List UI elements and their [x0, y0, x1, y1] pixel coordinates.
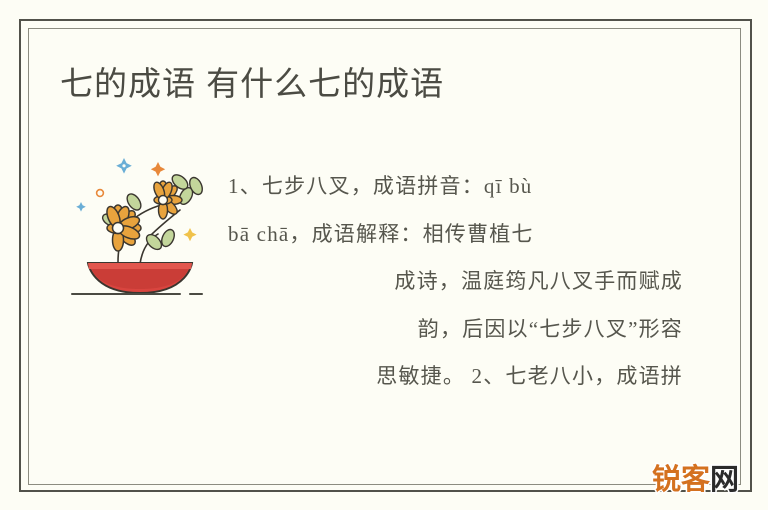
sparkle-orange-ring-icon — [97, 190, 104, 197]
article-line: 成诗，温庭筠凡八叉手而赋成 — [228, 258, 683, 306]
flower-pot-illustration — [62, 138, 224, 303]
article-line: 思敏捷。 2、七老八小，成语拼 — [228, 353, 683, 401]
flower-pot-bowl — [88, 263, 192, 293]
article-body: 1、七步八叉，成语拼音：qī bù bā chā，成语解释：相传曹植七 成诗，温… — [228, 163, 683, 401]
sparkle-orange-star-icon — [151, 162, 165, 176]
watermark-brand-text: 锐客 — [652, 462, 710, 496]
sparkle-yellow-star-icon — [183, 228, 196, 241]
sparkle-blue-dot-icon — [76, 202, 86, 212]
sparkle-blue-star-icon — [116, 158, 132, 174]
page-title: 七的成语 有什么七的成语 — [60, 62, 444, 106]
article-line: 1、七步八叉，成语拼音：qī bù — [228, 163, 683, 211]
article-line: bā chā，成语解释：相传曹植七 — [228, 211, 683, 259]
watermark: 锐客网 — [652, 462, 739, 496]
article-card: 七的成语 有什么七的成语 — [0, 0, 768, 510]
watermark-suffix-text: 网 — [710, 462, 739, 496]
article-line: 韵，后因以“七步八叉”形容 — [228, 306, 683, 354]
flower-large-icon — [104, 205, 141, 251]
